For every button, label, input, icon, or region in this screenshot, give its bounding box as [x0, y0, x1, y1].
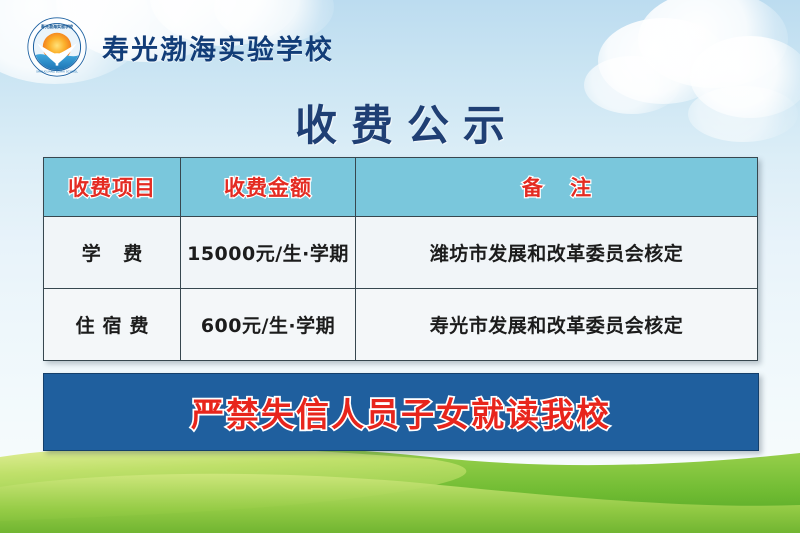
school-name: 寿光渤海实验学校: [102, 28, 334, 67]
school-logo-icon: 寿光渤海实验学校 SHOUGUANG BOHAI SCHOOL: [26, 16, 88, 78]
cell-item: 学 费: [44, 217, 181, 289]
column-header-note-label: 备 注: [512, 172, 601, 202]
table-body: 学 费 15000元/生·学期 潍坊市发展和改革委员会核定 住宿费 600元/生…: [44, 217, 758, 361]
warning-banner: 严禁失信人员子女就读我校: [43, 373, 759, 451]
cloud-icon: [638, 0, 788, 88]
table-row: 住宿费 600元/生·学期 寿光市发展和改革委员会核定: [44, 289, 758, 361]
column-header-amount-label: 收费金额: [224, 172, 312, 202]
page-title: 收费公示: [0, 92, 800, 153]
fee-disclosure-poster: 寿光渤海实验学校 SHOUGUANG BOHAI SCHOOL 寿光渤海实验学校…: [0, 0, 800, 533]
cell-item: 住宿费: [44, 289, 181, 361]
table-row: 学 费 15000元/生·学期 潍坊市发展和改革委员会核定: [44, 217, 758, 289]
cell-note: 潍坊市发展和改革委员会核定: [356, 217, 758, 289]
cell-amount: 600元/生·学期: [181, 289, 356, 361]
fee-table: 收费项目 收费金额 备 注 学 费 15000元/生·学期 潍坊市发展和改革委员…: [43, 157, 758, 361]
warning-banner-text: 严禁失信人员子女就读我校: [191, 388, 611, 436]
svg-text:SHOUGUANG BOHAI SCHOOL: SHOUGUANG BOHAI SCHOOL: [36, 69, 78, 73]
brand-header: 寿光渤海实验学校 SHOUGUANG BOHAI SCHOOL 寿光渤海实验学校: [26, 16, 334, 78]
column-header-note: 备 注: [356, 158, 758, 217]
svg-text:寿光渤海实验学校: 寿光渤海实验学校: [40, 23, 74, 29]
cell-amount: 15000元/生·学期: [181, 217, 356, 289]
column-header-item: 收费项目: [44, 158, 181, 217]
table-header: 收费项目 收费金额 备 注: [44, 158, 758, 217]
column-header-amount: 收费金额: [181, 158, 356, 217]
cell-note: 寿光市发展和改革委员会核定: [356, 289, 758, 361]
column-header-item-label: 收费项目: [68, 172, 156, 202]
table-header-row: 收费项目 收费金额 备 注: [44, 158, 758, 217]
